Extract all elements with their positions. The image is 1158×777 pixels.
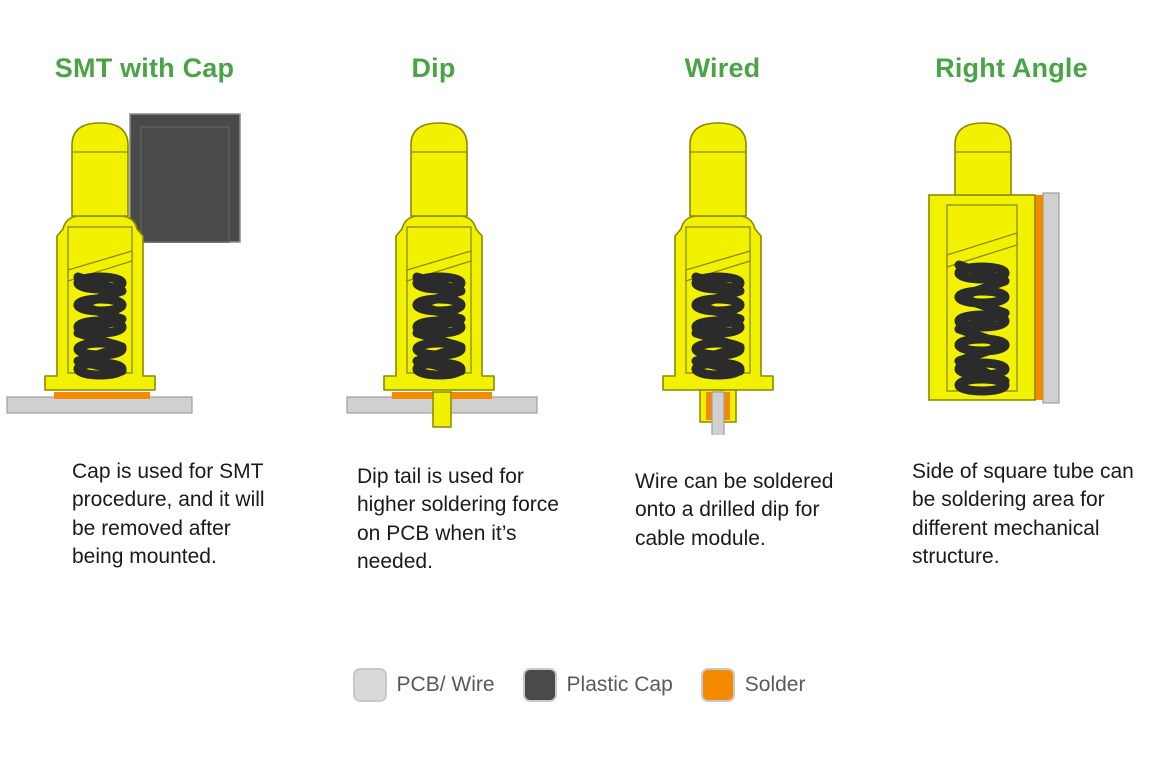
legend-item-plastic-cap: Plastic Cap (523, 668, 673, 702)
column-heading: Wired (578, 55, 867, 82)
column-heading: Right Angle (867, 55, 1156, 82)
pogo-pin-right-angle-illustration (867, 105, 1156, 435)
column-description: Dip tail is used for higher soldering fo… (289, 463, 578, 576)
legend-swatch-plastic-cap (523, 668, 557, 702)
column-heading: Dip (289, 55, 578, 82)
solder-shape (1035, 195, 1043, 400)
pogo-pin-smt-with-cap-illustration (0, 105, 289, 435)
column-description: Wire can be soldered onto a drilled dip … (578, 468, 867, 553)
column-description: Cap is used for SMT procedure, and it wi… (0, 458, 289, 571)
legend: PCB/ Wire Plastic Cap Solder (0, 668, 1158, 702)
column-description: Side of square tube can be soldering are… (867, 458, 1156, 571)
legend-swatch-solder (701, 668, 735, 702)
pogo-pin-body-shape (929, 123, 1035, 400)
legend-label-plastic-cap: Plastic Cap (567, 673, 673, 697)
column-wired: Wired (578, 0, 867, 777)
wire-shape (712, 392, 724, 435)
solder-shape (54, 392, 150, 399)
legend-label-pcb-wire: PCB/ Wire (397, 673, 495, 697)
spring-coil-shape (696, 277, 740, 375)
plastic-cap-shape (130, 114, 240, 242)
column-dip: Dip (289, 0, 578, 777)
spring-coil-shape (78, 277, 122, 375)
legend-label-solder: Solder (745, 673, 806, 697)
pogo-pin-dip-illustration (289, 105, 578, 435)
pcb-bar-shape (7, 397, 192, 413)
column-right-angle: Right Angle (867, 0, 1156, 777)
dip-tail-shape (433, 392, 451, 427)
legend-item-pcb-wire: PCB/ Wire (353, 668, 495, 702)
spring-coil-shape (417, 277, 461, 375)
legend-swatch-pcb-wire (353, 668, 387, 702)
pogo-pin-wired-illustration (578, 105, 867, 435)
legend-item-solder: Solder (701, 668, 806, 702)
diagram-canvas: SMT with Cap (0, 0, 1158, 777)
column-heading: SMT with Cap (0, 55, 289, 82)
pcb-bar-shape (1043, 193, 1059, 403)
column-smt-with-cap: SMT with Cap (0, 0, 289, 777)
